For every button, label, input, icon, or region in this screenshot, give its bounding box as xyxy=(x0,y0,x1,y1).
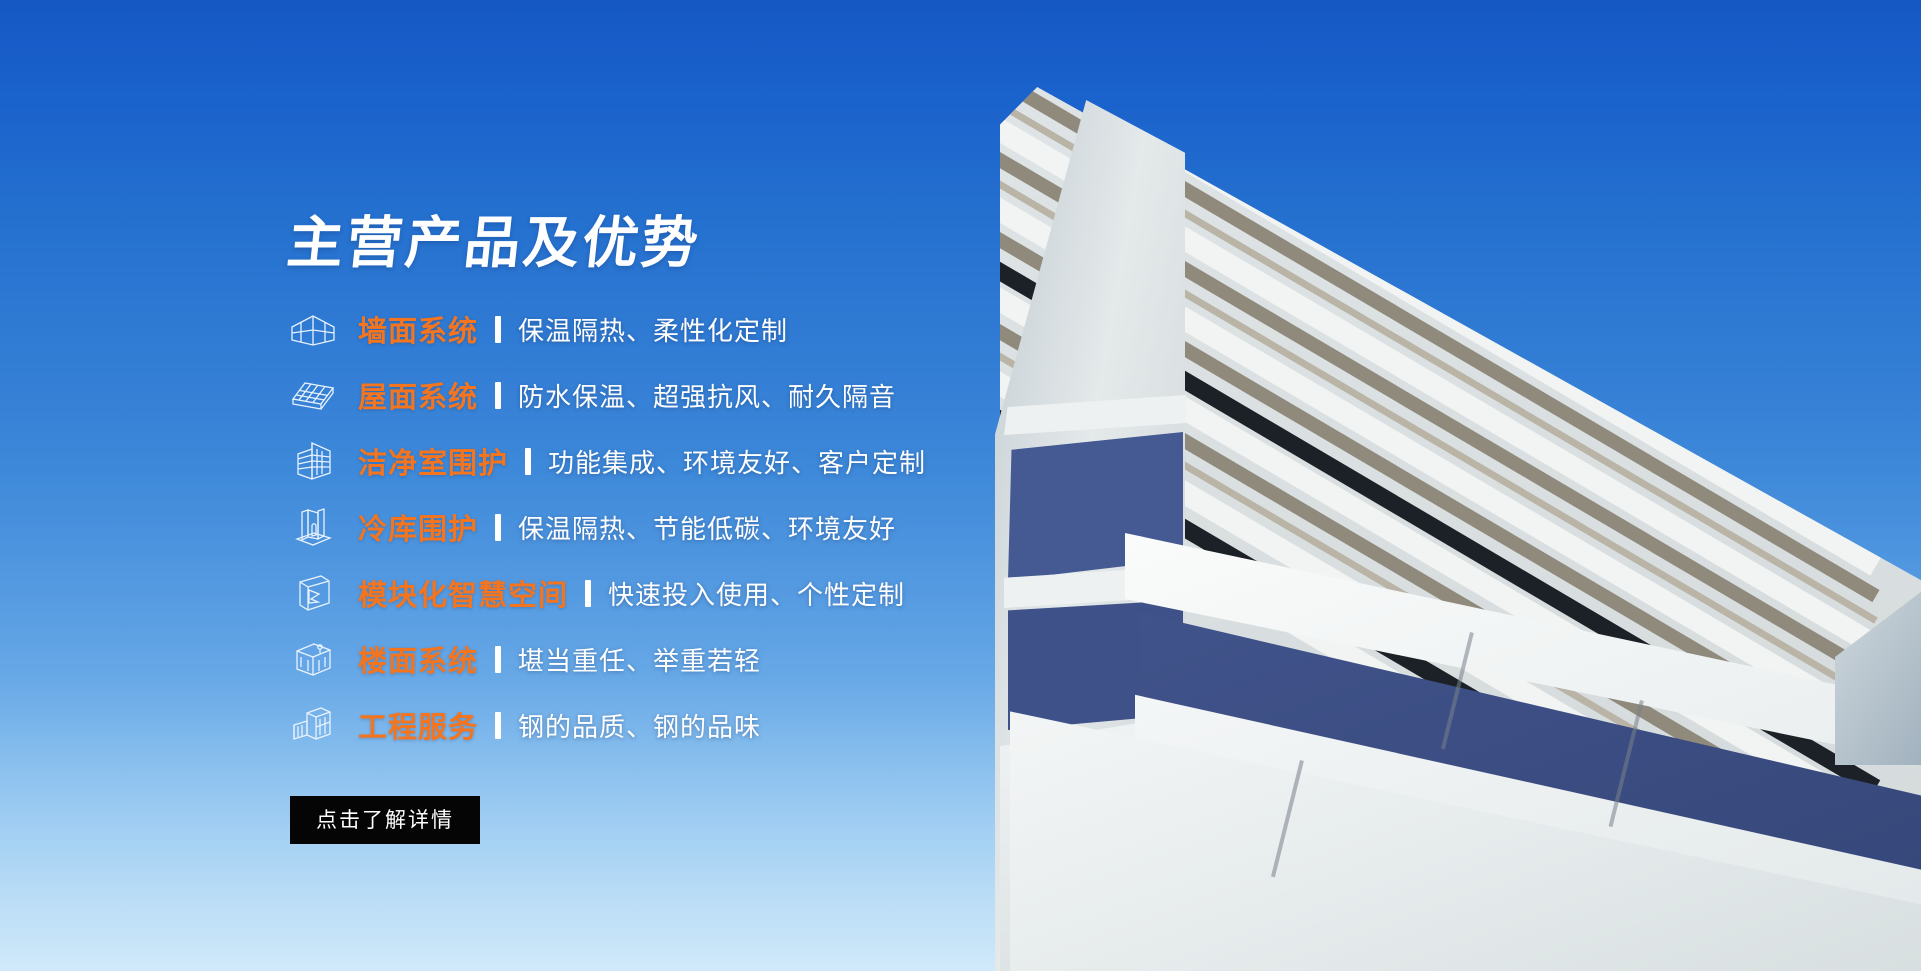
list-item[interactable]: 楼面系统 堪当重任、举重若轻 xyxy=(286,626,926,692)
feature-title: 楼面系统 xyxy=(358,638,478,680)
engineering-buildings-icon xyxy=(286,702,340,748)
feature-separator xyxy=(495,316,501,343)
wall-panel-icon xyxy=(286,306,340,352)
list-item[interactable]: 墙面系统 保温隔热、柔性化定制 xyxy=(286,296,926,362)
learn-more-button[interactable]: 点击了解详情 xyxy=(290,796,480,844)
cleanroom-building-icon xyxy=(286,438,340,484)
list-item[interactable]: 屋面系统 防水保温、超强抗风、耐久隔音 xyxy=(286,362,926,428)
feature-title: 墙面系统 xyxy=(358,308,478,350)
feature-description: 保温隔热、柔性化定制 xyxy=(518,311,788,348)
feature-title: 模块化智慧空间 xyxy=(358,572,568,614)
feature-separator xyxy=(495,646,501,673)
list-item[interactable]: 冷库围护 保温隔热、节能低碳、环境友好 xyxy=(286,494,926,560)
feature-separator xyxy=(495,382,501,409)
feature-description: 钢的品质、钢的品味 xyxy=(518,707,761,744)
floor-deck-icon xyxy=(286,636,340,682)
feature-separator xyxy=(495,514,501,541)
product-feature-list: 墙面系统 保温隔热、柔性化定制 屋面系统 防水保温、超强抗风、 xyxy=(286,296,926,758)
hero-stage: 主营产品及优势 墙面系统 保温隔热、柔性化定制 xyxy=(0,0,1921,971)
feature-description: 防水保温、超强抗风、耐久隔音 xyxy=(518,377,896,414)
feature-separator xyxy=(495,712,501,739)
feature-description: 功能集成、环境友好、客户定制 xyxy=(548,443,926,480)
cold-storage-icon xyxy=(286,504,340,550)
modular-cube-icon xyxy=(286,570,340,616)
feature-title: 工程服务 xyxy=(358,704,478,746)
list-item[interactable]: 工程服务 钢的品质、钢的品味 xyxy=(286,692,926,758)
feature-description: 保温隔热、节能低碳、环境友好 xyxy=(518,509,896,546)
feature-title: 屋面系统 xyxy=(358,374,478,416)
list-item[interactable]: 洁净室围护 功能集成、环境友好、客户定制 xyxy=(286,428,926,494)
page-title: 主营产品及优势 xyxy=(284,198,706,279)
feature-description: 堪当重任、举重若轻 xyxy=(518,641,761,678)
hero-content: 主营产品及优势 墙面系统 保温隔热、柔性化定制 xyxy=(0,0,1100,971)
list-item[interactable]: 模块化智慧空间 快速投入使用、个性定制 xyxy=(286,560,926,626)
feature-separator xyxy=(585,580,591,607)
feature-title: 洁净室围护 xyxy=(358,440,508,482)
feature-description: 快速投入使用、个性定制 xyxy=(608,575,905,612)
roof-panel-icon xyxy=(286,372,340,418)
feature-separator xyxy=(525,448,531,475)
feature-title: 冷库围护 xyxy=(358,506,478,548)
